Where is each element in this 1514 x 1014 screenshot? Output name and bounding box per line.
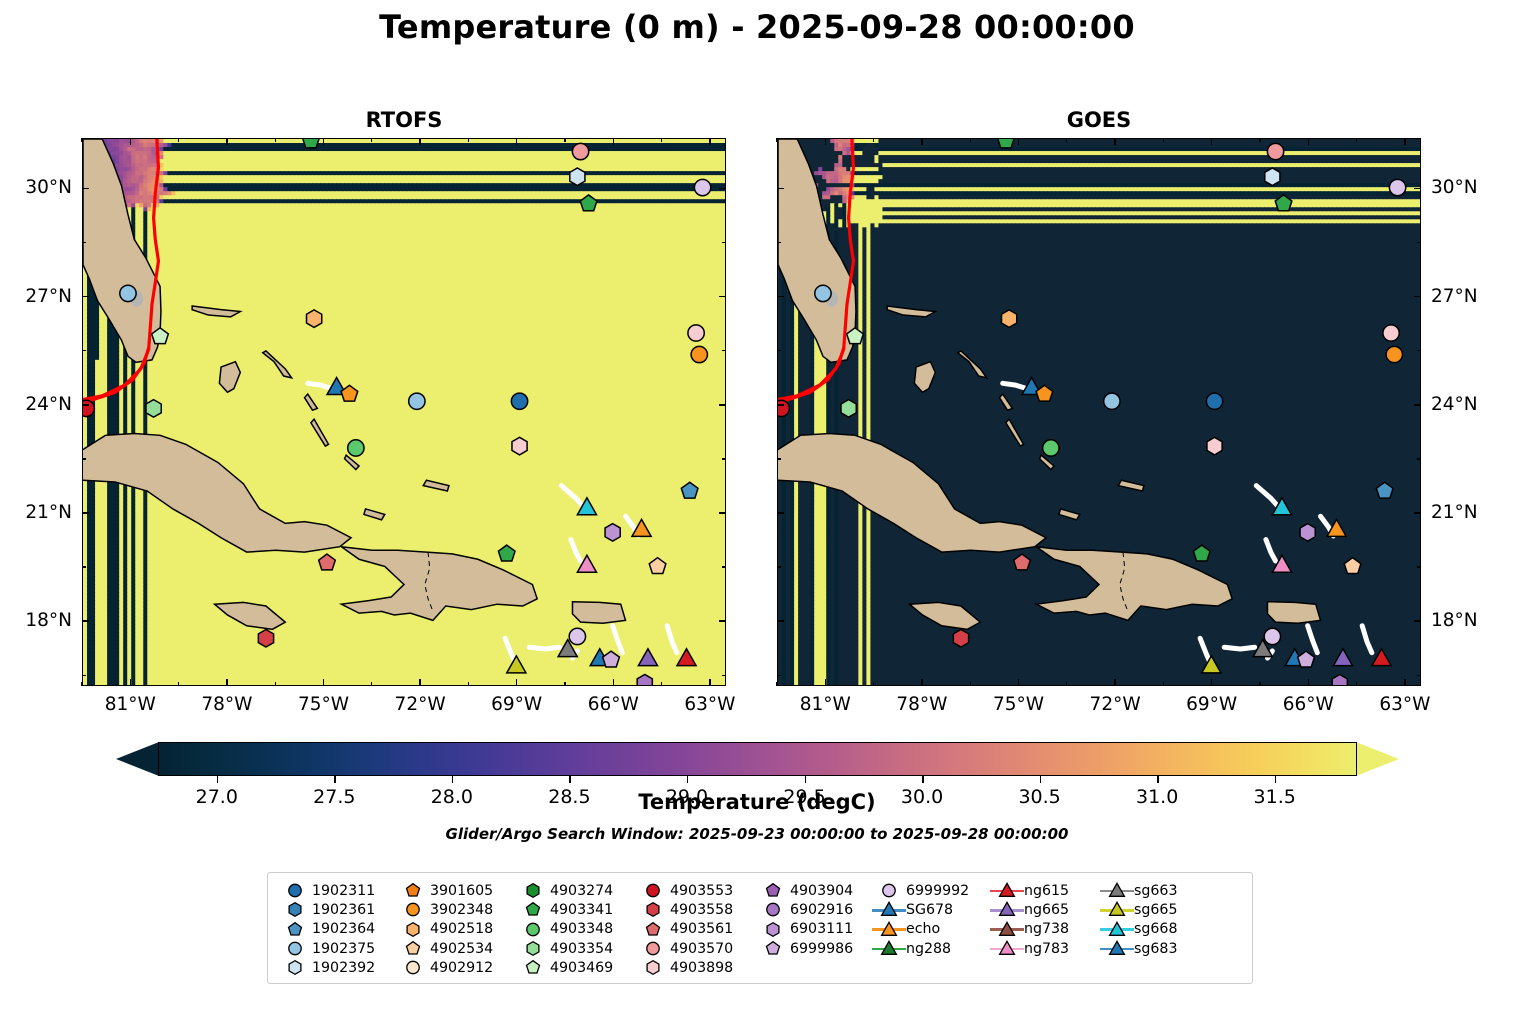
legend-symbol-ng288 (872, 939, 906, 958)
axis-tick-y (719, 404, 726, 406)
legend-entry-4903561[interactable]: 4903561 (636, 920, 756, 939)
axis-tick-y-minor (777, 242, 781, 243)
colorbar[interactable]: 27.027.528.028.529.029.530.030.531.031.5 (116, 742, 1399, 776)
axis-tick-y (1414, 188, 1421, 190)
axis-label-y: 27°N (0, 286, 72, 306)
axis-tick-x-minor (1066, 682, 1067, 686)
map-marker-4903570[interactable] (1267, 143, 1283, 159)
axis-tick-y-minor (82, 242, 86, 243)
legend-label-sg668: sg668 (1134, 921, 1177, 937)
axis-tick-x (323, 679, 325, 686)
axis-tick-x-minor (81, 138, 82, 142)
legend-symbol-ng738 (990, 920, 1024, 939)
legend-symbol-4903469 (516, 958, 550, 977)
map-marker-4902518[interactable] (307, 310, 322, 328)
axis-tick-x (516, 679, 518, 686)
legend-label-sg663: sg663 (1134, 883, 1177, 899)
axis-tick-y-minor (82, 350, 86, 351)
map-marker-1902375b[interactable] (409, 393, 425, 409)
axis-label-x: 66°W (568, 694, 658, 715)
axis-tick-x (709, 138, 711, 145)
colorbar-tick (569, 776, 571, 783)
axis-tick-y (719, 296, 726, 298)
legend-label-1902392: 1902392 (312, 960, 375, 976)
map-marker-6999992b[interactable] (1264, 628, 1280, 644)
map-marker-4903558[interactable] (953, 630, 968, 648)
legend-symbol-6903111 (756, 920, 790, 939)
panel-title-rtofs: RTOFS (82, 108, 726, 132)
map-marker-4903898[interactable] (688, 325, 704, 341)
legend[interactable]: 1902311190236119023641902375190239239016… (267, 872, 1253, 984)
legend-entry-1902392[interactable]: 1902392 (278, 958, 396, 977)
map-marker-1902392[interactable] (1265, 168, 1280, 186)
map-marker-1902311[interactable] (511, 393, 527, 409)
legend-entry-4903274[interactable]: 4903274 (516, 881, 636, 900)
axis-tick-x (709, 679, 711, 686)
axis-tick-x (130, 679, 132, 686)
axis-tick-y-minor (1417, 566, 1421, 567)
axis-label-y: 24°N (0, 394, 72, 414)
axis-tick-x-minor (776, 138, 777, 142)
axis-tick-x (825, 138, 827, 145)
map-marker-4903553[interactable] (82, 400, 94, 416)
legend-symbol-4902912 (396, 958, 430, 977)
axis-label-y: 18°N (1431, 610, 1514, 630)
axis-tick-y (777, 512, 784, 514)
colorbar-tick (1275, 776, 1277, 783)
axis-label-x: 66°W (1263, 694, 1353, 715)
axis-tick-y (777, 404, 784, 406)
axis-tick-x (921, 138, 923, 145)
legend-label-ng288: ng288 (906, 941, 951, 957)
legend-symbol-4903354 (516, 939, 550, 958)
colorbar-max-cap (1356, 742, 1399, 776)
axis-tick-y (719, 512, 726, 514)
legend-label-4903570: 4903570 (670, 941, 733, 957)
axis-tick-x-minor (661, 682, 662, 686)
legend-entry-3902348[interactable]: 3902348 (396, 900, 516, 919)
legend-label-6902916: 6902916 (790, 902, 853, 918)
legend-entry-ng615[interactable]: ng615 (990, 881, 1100, 900)
legend-column-1: 39016053902348490251849025344902912 (396, 881, 516, 977)
colorbar-tick (1040, 776, 1042, 783)
axis-tick-x-minor (873, 682, 874, 686)
axis-label-x: 69°W (472, 694, 562, 715)
map-marker-1902375[interactable] (120, 285, 136, 301)
axis-tick-y-minor (1417, 458, 1421, 459)
legend-symbol-4903558 (636, 900, 670, 919)
legend-label-4902518: 4902518 (430, 921, 493, 937)
axis-tick-x-minor (564, 682, 565, 686)
axis-tick-y-minor (722, 350, 726, 351)
map-marker-4903570[interactable] (572, 143, 588, 159)
legend-symbol-6999992 (872, 881, 906, 900)
legend-symbol-3902348 (396, 900, 430, 919)
colorbar-tick (452, 776, 454, 783)
axis-label-y: 30°N (0, 177, 72, 197)
axis-label-x: 78°W (877, 694, 967, 715)
axis-tick-x-minor (178, 682, 179, 686)
axis-tick-x (1404, 138, 1406, 145)
axis-tick-x-minor (178, 138, 179, 142)
legend-label-3901605: 3901605 (430, 883, 493, 899)
axis-tick-y (82, 620, 89, 622)
legend-entry-sg663[interactable]: sg663 (1100, 881, 1204, 900)
legend-entry-4903341[interactable]: 4903341 (516, 900, 636, 919)
map-marker-1902375[interactable] (815, 285, 831, 301)
legend-label-sg683: sg683 (1134, 941, 1177, 957)
legend-label-4903558: 4903558 (670, 902, 733, 918)
axis-tick-y-minor (82, 675, 86, 676)
axis-tick-x-minor (275, 138, 276, 142)
axis-tick-y-minor (1417, 675, 1421, 676)
legend-symbol-1902392 (278, 958, 312, 977)
page-title: Temperature (0 m) - 2025-09-28 00:00:00 (0, 8, 1514, 46)
axis-label-x: 72°W (1070, 694, 1160, 715)
legend-symbol-4903553 (636, 881, 670, 900)
axis-tick-x-minor (1259, 682, 1260, 686)
legend-label-4903469: 4903469 (550, 960, 613, 976)
axis-tick-y (1414, 620, 1421, 622)
axis-tick-x (1114, 138, 1116, 145)
legend-entry-1902311[interactable]: 1902311 (278, 881, 396, 900)
axis-label-y: 21°N (0, 502, 72, 522)
colorbar-tick (217, 776, 219, 783)
map-marker-4903898b[interactable] (1207, 437, 1222, 455)
axis-tick-x (1308, 138, 1310, 145)
axis-tick-x-minor (371, 138, 372, 142)
axis-tick-x-minor (1356, 682, 1357, 686)
legend-label-3902348: 3902348 (430, 902, 493, 918)
colorbar-tick (1157, 776, 1159, 783)
legend-entry-6902916[interactable]: 6902916 (756, 900, 872, 919)
axis-label-x: 69°W (1167, 694, 1257, 715)
map-panel-rtofs[interactable] (82, 138, 726, 686)
axis-tick-x (323, 138, 325, 145)
axis-tick-x-minor (81, 682, 82, 686)
legend-label-SG678: SG678 (906, 902, 953, 918)
legend-symbol-ng615 (990, 881, 1024, 900)
axis-tick-x-minor (970, 138, 971, 142)
legend-entry-4903904[interactable]: 4903904 (756, 881, 872, 900)
legend-grid: 1902311190236119023641902375190239239016… (278, 881, 1204, 977)
map-marker-4903348[interactable] (1043, 440, 1059, 456)
axis-tick-x-minor (1066, 138, 1067, 142)
legend-symbol-4903348 (516, 920, 550, 939)
axis-tick-y-minor (722, 242, 726, 243)
map-marker-6903111[interactable] (605, 524, 620, 542)
axis-label-x: 63°W (665, 694, 755, 715)
colorbar-tick (922, 776, 924, 783)
legend-entry-1902361[interactable]: 1902361 (278, 900, 396, 919)
axis-tick-x-minor (468, 138, 469, 142)
colorbar-gradient (158, 742, 1357, 776)
axis-label-y: 21°N (1431, 502, 1514, 522)
legend-label-echo: echo (906, 921, 940, 937)
axis-tick-y-minor (1417, 350, 1421, 351)
figure-canvas: Temperature (0 m) - 2025-09-28 00:00:00 … (0, 0, 1514, 1014)
legend-label-ng665: ng665 (1024, 902, 1069, 918)
axis-tick-x (1211, 138, 1213, 145)
legend-symbol-1902375 (278, 939, 312, 958)
axis-label-x: 63°W (1360, 694, 1450, 715)
legend-entry-4903354[interactable]: 4903354 (516, 939, 636, 958)
map-marker-4903348[interactable] (348, 440, 364, 456)
legend-entry-sg668[interactable]: sg668 (1100, 920, 1204, 939)
axis-tick-x (130, 138, 132, 145)
map-marker-4903354[interactable] (146, 400, 161, 418)
legend-entry-4902534[interactable]: 4902534 (396, 939, 516, 958)
axis-tick-y (82, 188, 89, 190)
colorbar-tick (687, 776, 689, 783)
legend-symbol-sg665 (1100, 900, 1134, 919)
axis-tick-x (1404, 679, 1406, 686)
legend-entry-4903570[interactable]: 4903570 (636, 939, 756, 958)
axis-tick-x (1114, 679, 1116, 686)
axis-tick-x (1308, 679, 1310, 686)
map-marker-1902311[interactable] (1206, 393, 1222, 409)
legend-label-4903354: 4903354 (550, 941, 613, 957)
axis-tick-y (777, 188, 784, 190)
legend-symbol-sg668 (1100, 920, 1134, 939)
legend-label-6999986: 6999986 (790, 941, 853, 957)
axis-label-x: 75°W (279, 694, 369, 715)
legend-symbol-4903898 (636, 958, 670, 977)
axis-tick-y (82, 404, 89, 406)
map-marker-4903898[interactable] (1383, 325, 1399, 341)
legend-label-ng783: ng783 (1024, 941, 1069, 957)
axis-label-y: 27°N (1431, 286, 1514, 306)
legend-symbol-4903904 (756, 881, 790, 900)
legend-label-1902375: 1902375 (312, 941, 375, 957)
axis-tick-y (1414, 296, 1421, 298)
legend-entry-ng665[interactable]: ng665 (990, 900, 1100, 919)
axis-tick-y-minor (777, 566, 781, 567)
legend-label-4903561: 4903561 (670, 921, 733, 937)
legend-entry-echo[interactable]: echo (872, 920, 990, 939)
axis-tick-x (1211, 679, 1213, 686)
legend-entry-ng738[interactable]: ng738 (990, 920, 1100, 939)
axis-tick-x (825, 679, 827, 686)
map-marker-4903341[interactable] (998, 138, 1015, 148)
axis-tick-x-minor (873, 138, 874, 142)
axis-tick-x (613, 138, 615, 145)
legend-symbol-4903274 (516, 881, 550, 900)
legend-entry-6999986[interactable]: 6999986 (756, 939, 872, 958)
axis-tick-y-minor (722, 566, 726, 567)
legend-entry-SG678[interactable]: SG678 (872, 900, 990, 919)
panel-title-goes: GOES (777, 108, 1421, 132)
map-marker-4903354[interactable] (841, 400, 856, 418)
legend-entry-4902912[interactable]: 4902912 (396, 958, 516, 977)
map-marker-6903111[interactable] (1300, 524, 1315, 542)
axis-label-x: 81°W (85, 694, 175, 715)
axis-tick-y-minor (82, 458, 86, 459)
legend-entry-4903553[interactable]: 4903553 (636, 881, 756, 900)
landmass-pr (572, 602, 625, 624)
legend-label-6999992: 6999992 (906, 883, 969, 899)
legend-symbol-echo (872, 920, 906, 939)
map-marker-4903553[interactable] (777, 400, 789, 416)
axis-tick-x (1018, 679, 1020, 686)
legend-label-4903553: 4903553 (670, 883, 733, 899)
legend-entry-4903348[interactable]: 4903348 (516, 920, 636, 939)
legend-symbol-ng665 (990, 900, 1024, 919)
axis-tick-x (921, 679, 923, 686)
axis-label-y: 30°N (1431, 177, 1514, 197)
legend-column-4: 4903904690291669031116999986 (756, 881, 872, 977)
map-marker-4902518[interactable] (1002, 310, 1017, 328)
search-window-note: Glider/Argo Search Window: 2025-09-23 00… (0, 825, 1514, 843)
legend-label-1902364: 1902364 (312, 921, 375, 937)
legend-column-6: ng615ng665ng738ng783 (990, 881, 1100, 977)
legend-label-sg665: sg665 (1134, 902, 1177, 918)
axis-tick-y-minor (777, 675, 781, 676)
axis-tick-x-minor (970, 682, 971, 686)
legend-entry-4903558[interactable]: 4903558 (636, 900, 756, 919)
axis-tick-y (777, 620, 784, 622)
axis-tick-x-minor (275, 682, 276, 686)
map-panel-goes[interactable] (777, 138, 1421, 686)
legend-column-3: 49035534903558490356149035704903898 (636, 881, 756, 977)
axis-tick-x-minor (1163, 682, 1164, 686)
legend-label-1902311: 1902311 (312, 883, 375, 899)
axis-tick-x (1018, 138, 1020, 145)
axis-tick-y-minor (777, 458, 781, 459)
axis-tick-x (419, 138, 421, 145)
map-marker-1902392[interactable] (570, 168, 585, 186)
axis-tick-x-minor (1259, 138, 1260, 142)
axis-label-y: 18°N (0, 610, 72, 630)
legend-column-5: 6999992SG678echong288 (872, 881, 990, 977)
legend-label-6903111: 6903111 (790, 921, 853, 937)
axis-tick-y-minor (82, 566, 86, 567)
axis-tick-x (419, 679, 421, 686)
legend-label-4903348: 4903348 (550, 921, 613, 937)
legend-symbol-4903561 (636, 920, 670, 939)
axis-tick-y (82, 512, 89, 514)
axis-tick-y-minor (722, 458, 726, 459)
axis-tick-y (777, 296, 784, 298)
axis-tick-x (516, 138, 518, 145)
legend-column-2: 49032744903341490334849033544903469 (516, 881, 636, 977)
axis-tick-x (226, 679, 228, 686)
legend-symbol-ng783 (990, 939, 1024, 958)
axis-tick-y-minor (777, 350, 781, 351)
axis-tick-x-minor (564, 138, 565, 142)
legend-label-1902361: 1902361 (312, 902, 375, 918)
legend-symbol-4902518 (396, 920, 430, 939)
legend-label-4903341: 4903341 (550, 902, 613, 918)
legend-column-7: sg663sg665sg668sg683 (1100, 881, 1204, 977)
legend-entry-sg683[interactable]: sg683 (1100, 939, 1204, 958)
glider-track-5 (1224, 647, 1255, 649)
colorbar-tick (805, 776, 807, 783)
axis-label-x: 72°W (375, 694, 465, 715)
landmass-pr (1267, 602, 1320, 624)
axis-tick-y (719, 188, 726, 190)
legend-symbol-4903570 (636, 939, 670, 958)
legend-column-0: 19023111902361190236419023751902392 (278, 881, 396, 977)
legend-symbol-3901605 (396, 881, 430, 900)
legend-symbol-1902311 (278, 881, 312, 900)
axis-label-x: 78°W (182, 694, 272, 715)
axis-tick-x-minor (776, 682, 777, 686)
legend-symbol-4902534 (396, 939, 430, 958)
legend-symbol-SG678 (872, 900, 906, 919)
legend-entry-4903898[interactable]: 4903898 (636, 958, 756, 977)
legend-entry-6999992[interactable]: 6999992 (872, 881, 990, 900)
legend-entry-4903469[interactable]: 4903469 (516, 958, 636, 977)
map-marker-1902375b[interactable] (1104, 393, 1120, 409)
axis-tick-x (613, 679, 615, 686)
axis-tick-y-minor (1417, 242, 1421, 243)
map-marker-6999992[interactable] (694, 179, 710, 195)
axis-tick-y-minor (722, 675, 726, 676)
map-marker-3902348[interactable] (1386, 346, 1402, 362)
colorbar-label: Temperature (degC) (0, 790, 1514, 814)
legend-entry-1902364[interactable]: 1902364 (278, 920, 396, 939)
legend-symbol-1902364 (278, 920, 312, 939)
map-marker-4903898b[interactable] (512, 437, 527, 455)
colorbar-tick (334, 776, 336, 783)
legend-label-4903274: 4903274 (550, 883, 613, 899)
legend-label-4902912: 4902912 (430, 960, 493, 976)
axis-label-x: 75°W (974, 694, 1064, 715)
axis-label-y: 24°N (1431, 394, 1514, 414)
legend-label-ng615: ng615 (1024, 883, 1069, 899)
map-marker-3902348[interactable] (691, 346, 707, 362)
legend-entry-6903111[interactable]: 6903111 (756, 920, 872, 939)
legend-symbol-6999986 (756, 939, 790, 958)
legend-entry-1902375[interactable]: 1902375 (278, 939, 396, 958)
axis-label-x: 81°W (780, 694, 870, 715)
map-marker-6999992[interactable] (1389, 179, 1405, 195)
legend-label-ng738: ng738 (1024, 921, 1069, 937)
legend-symbol-6902916 (756, 900, 790, 919)
legend-entry-3901605[interactable]: 3901605 (396, 881, 516, 900)
legend-label-4903904: 4903904 (790, 883, 853, 899)
axis-tick-y (1414, 404, 1421, 406)
axis-tick-x-minor (1356, 138, 1357, 142)
axis-tick-y (82, 296, 89, 298)
glider-track-5 (529, 647, 560, 649)
legend-label-4903898: 4903898 (670, 960, 733, 976)
map-marker-4903558[interactable] (258, 630, 273, 648)
axis-tick-x-minor (1163, 138, 1164, 142)
map-marker-6999992b[interactable] (569, 628, 585, 644)
legend-label-4902534: 4902534 (430, 941, 493, 957)
map-marker-4903341[interactable] (303, 138, 320, 148)
legend-symbol-1902361 (278, 900, 312, 919)
axis-tick-x-minor (661, 138, 662, 142)
axis-tick-y (1414, 512, 1421, 514)
colorbar-min-cap (116, 742, 159, 776)
axis-tick-x-minor (371, 682, 372, 686)
axis-tick-x (226, 138, 228, 145)
axis-tick-x-minor (468, 682, 469, 686)
legend-symbol-sg683 (1100, 939, 1134, 958)
legend-symbol-4903341 (516, 900, 550, 919)
axis-tick-y (719, 620, 726, 622)
legend-symbol-sg663 (1100, 881, 1134, 900)
legend-entry-4902518[interactable]: 4902518 (396, 920, 516, 939)
legend-entry-ng288[interactable]: ng288 (872, 939, 990, 958)
legend-entry-ng783[interactable]: ng783 (990, 939, 1100, 958)
legend-entry-sg665[interactable]: sg665 (1100, 900, 1204, 919)
